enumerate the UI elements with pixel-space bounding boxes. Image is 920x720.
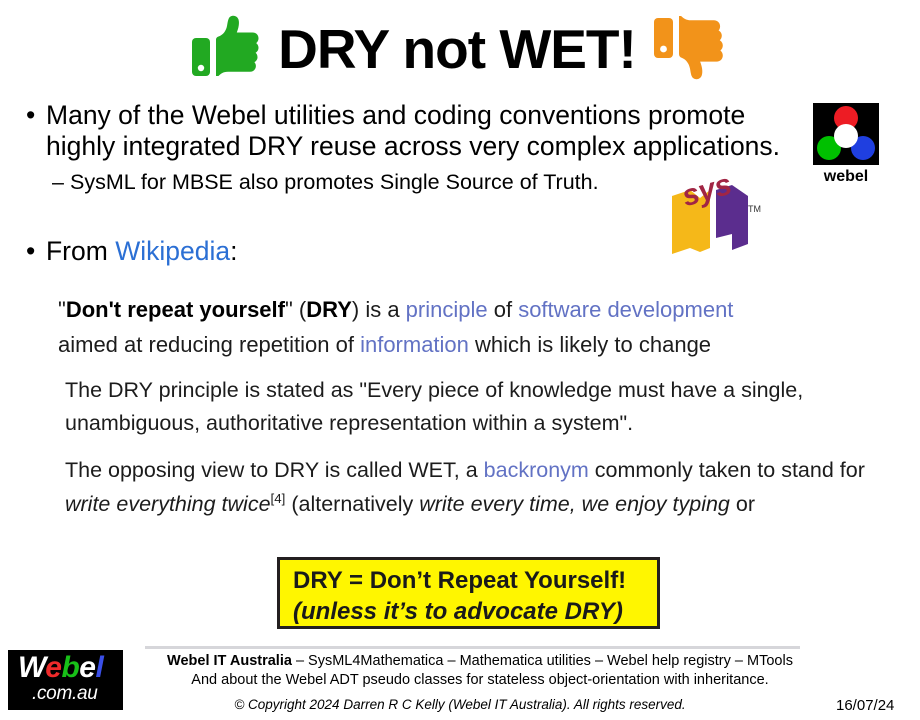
sysml-logo-tm-mark: TM [748, 204, 761, 214]
page-title: DRY not WET! [278, 22, 636, 77]
bullet-item-1-sub-text: SysML for MBSE also promotes Single Sour… [70, 170, 712, 196]
colon-label: : [230, 236, 237, 266]
logo-letter-l: l [95, 651, 103, 684]
bullet-item-2-text: From Wikipedia: [46, 236, 237, 267]
quote-p3-post: or [730, 493, 755, 517]
webel-footer-logo: Webel .com.au [8, 650, 123, 710]
footer-products-list: – SysML4Mathematica – Mathematica utilit… [292, 653, 793, 669]
quote-line2-post: which is likely to change [469, 332, 711, 357]
backronym-link[interactable]: backronym [484, 458, 589, 482]
from-label: From [46, 236, 115, 266]
webel-logo-caption: webel [813, 168, 879, 186]
footer-divider [145, 646, 800, 649]
webel-footer-logo-wordmark: Webel [18, 653, 103, 683]
quote-after-dry: ) is a [352, 297, 406, 322]
logo-letter-w: W [18, 651, 45, 684]
quote-open-quote: " [58, 297, 66, 322]
slide-title-row: DRY not WET! [0, 6, 920, 92]
thumbs-up-icon [190, 12, 262, 87]
quote-p3-mid: commonly taken to stand for [589, 458, 865, 482]
quote-paragraph-2: The DRY principle is stated as "Every pi… [65, 374, 893, 442]
quote-paragraph-3: The opposing view to DRY is called WET, … [65, 454, 893, 522]
quote-p3-mid2: (alternatively [285, 493, 419, 517]
bullet-marker: • [26, 100, 35, 131]
wikipedia-link[interactable]: Wikipedia [115, 236, 230, 266]
quote-italic-write-everything-twice: write everything twice [65, 493, 271, 517]
sysml-logo-icon: sys TM [668, 168, 764, 254]
principle-link[interactable]: principle [406, 297, 488, 322]
footer-company-name: Webel IT Australia [167, 653, 292, 669]
footer-line-1: Webel IT Australia – SysML4Mathematica –… [130, 653, 830, 669]
quote-p3-pre: The opposing view to DRY is called WET, … [65, 458, 484, 482]
information-link[interactable]: information [360, 332, 469, 357]
quote-of-label: of [488, 297, 519, 322]
webel-logo-white-circle [834, 124, 858, 148]
bullet-item-2: • From Wikipedia: [24, 236, 237, 267]
dry-definition-callout: DRY = Don’t Repeat Yourself! (unless it’… [277, 557, 660, 629]
software-development-link[interactable]: software development [518, 297, 733, 322]
quote-bold-dry: DRY [306, 297, 352, 322]
bullet-marker-2: • [26, 236, 35, 267]
callout-line-1: DRY = Don’t Repeat Yourself! [293, 566, 657, 597]
footer-copyright: © Copyright 2024 Darren R C Kelly (Webel… [130, 697, 790, 712]
webel-logo-icon [813, 103, 879, 165]
wikipedia-quote-block: "Don't repeat yourself" (DRY) is a princ… [58, 293, 893, 523]
quote-paragraph-1: "Don't repeat yourself" (DRY) is a princ… [58, 293, 893, 363]
logo-letter-e2: e [79, 651, 95, 684]
quote-bold-dont-repeat: Don't repeat yourself [66, 297, 285, 322]
logo-letter-b: b [61, 651, 79, 684]
sub-bullet-marker: – [52, 170, 64, 196]
footer-date: 16/07/24 [836, 697, 894, 714]
footer-line-2: And about the Webel ADT pseudo classes f… [130, 672, 830, 688]
callout-line-2: (unless it’s to advocate DRY) [293, 597, 657, 628]
quote-italic-write-every-time: write every time, we enjoy typing [419, 493, 730, 517]
bullet-item-1-sub: – SysML for MBSE also promotes Single So… [52, 170, 712, 196]
bullet-item-1: • Many of the Webel utilities and coding… [24, 100, 814, 162]
bullet-item-1-text: Many of the Webel utilities and coding c… [46, 100, 814, 162]
quote-reference-marker: [4] [271, 491, 286, 506]
webel-footer-logo-domain: .com.au [32, 683, 98, 705]
quote-close-quote: " ( [285, 297, 306, 322]
thumbs-down-icon [652, 10, 730, 89]
logo-letter-e1: e [45, 651, 61, 684]
quote-line2-pre: aimed at reducing repetition of [58, 332, 360, 357]
slide-canvas: DRY not WET! • Many of the Webel utiliti… [0, 0, 920, 720]
